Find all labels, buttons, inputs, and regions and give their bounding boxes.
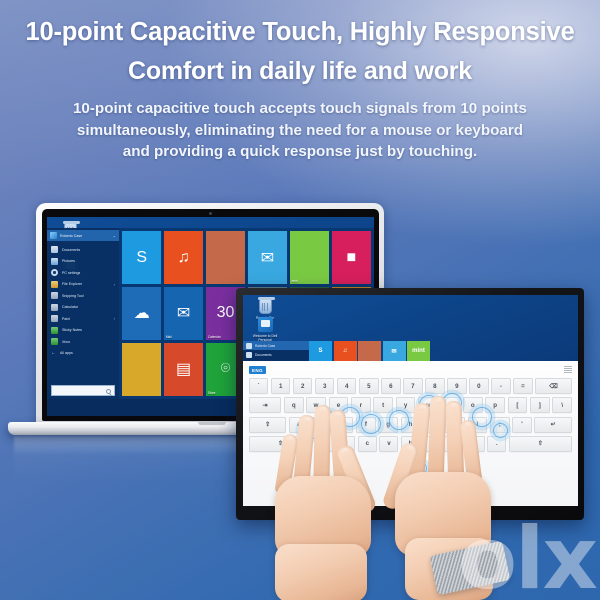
key-sym[interactable]: ↵	[534, 417, 571, 433]
item-label: Documents	[62, 248, 80, 252]
keyboard-row-3: ⇪asdfghjkl;'↵	[249, 417, 572, 433]
item-icon	[51, 281, 58, 288]
tile-caption: Calendar	[208, 335, 221, 339]
tile-glyph: ✉	[248, 231, 287, 284]
key-c[interactable]: c	[358, 436, 377, 452]
key-sym[interactable]: ⇧	[249, 436, 312, 452]
keyboard-row-1: `1234567890-=⌫	[249, 378, 572, 394]
start-menu-item-calculator[interactable]: Calculator	[47, 302, 119, 314]
item-label: Calculator	[62, 305, 78, 309]
tablet-start-menu-tiles: S♫✉mint	[309, 341, 578, 361]
keyboard-dock-icon[interactable]	[564, 366, 572, 373]
tile-glyph: ■	[332, 231, 371, 284]
start-menu-sidebar: Roberto Case ⌄ DocumentsPicturesPC setti…	[47, 228, 119, 399]
item-label: File Explorer	[62, 282, 82, 286]
right-wrist	[405, 538, 493, 600]
start-menu-item-sticky-notes[interactable]: Sticky Notes	[47, 325, 119, 337]
key-q[interactable]: q	[284, 397, 304, 413]
key-z[interactable]: z	[315, 436, 334, 452]
tile-glyph	[358, 341, 381, 361]
key-f[interactable]: f	[356, 417, 376, 433]
chevron-right-icon: ›	[114, 282, 115, 287]
key-sym[interactable]: ⇥	[249, 397, 281, 413]
key-t[interactable]: t	[373, 397, 393, 413]
key-v[interactable]: v	[379, 436, 398, 452]
people-photo-tile[interactable]	[206, 231, 245, 284]
key-3[interactable]: 3	[315, 378, 334, 394]
key-y[interactable]: y	[396, 397, 416, 413]
description-line-1: 10-point capacitive touch accepts touch …	[24, 98, 576, 120]
touch-monitor-device: Recycle Bin Welcome to Dell Personal Rob…	[236, 288, 584, 520]
start-menu-all-apps[interactable]: ← All apps	[47, 348, 119, 358]
key-sym[interactable]: ⇪	[249, 417, 286, 433]
tile-glyph	[290, 231, 329, 284]
key-1[interactable]: 1	[271, 378, 290, 394]
tile-glyph: ▤	[164, 343, 203, 396]
keyboard-rows: `1234567890-=⌫⇥qwertyuiop[]\⇪asdfghjkl;'…	[249, 378, 572, 452]
back-arrow-icon: ←	[51, 350, 56, 356]
start-menu-item-pictures[interactable]: Pictures	[47, 256, 119, 268]
skype-tile[interactable]: S	[309, 341, 332, 361]
keyboard-top-bar: ENG	[249, 366, 572, 375]
start-menu-item-pc-settings[interactable]: PC settings	[47, 267, 119, 279]
olx-watermark: olx	[458, 525, 596, 594]
promo-banner: 10-point Capacitive Touch, Highly Respon…	[0, 0, 600, 600]
key-o[interactable]: o	[463, 397, 483, 413]
tile-glyph: ♫	[334, 341, 357, 361]
chevron-down-icon: ⌄	[113, 233, 116, 238]
tile-glyph	[206, 231, 245, 284]
tablet-start-menu-sidebar: Roberto CaseDocuments	[243, 341, 309, 361]
mint-tile[interactable]: mint	[407, 341, 430, 361]
tablet-start-menu: Roberto CaseDocuments S♫✉mint	[243, 341, 578, 361]
key-sym[interactable]: \	[552, 397, 572, 413]
key-sym[interactable]: `	[249, 378, 268, 394]
item-label: Xbox	[62, 340, 70, 344]
key-4[interactable]: 4	[337, 378, 356, 394]
monitor-screen: Recycle Bin Welcome to Dell Personal Rob…	[243, 295, 578, 506]
key-sym[interactable]: =	[513, 378, 532, 394]
key-sym[interactable]: '	[512, 417, 532, 433]
language-badge[interactable]: ENG	[249, 366, 266, 374]
item-icon	[51, 292, 58, 299]
tile-caption: Mail	[166, 335, 172, 339]
description-line-2: simultaneously, eliminating the need for…	[24, 120, 576, 142]
keyboard-row-2: ⇥qwertyuiop[]\	[249, 397, 572, 413]
mail-tile[interactable]: ✉Mail	[164, 287, 203, 340]
start-menu-user[interactable]: Roberto Case ⌄	[47, 230, 119, 241]
key-5[interactable]: 5	[359, 378, 378, 394]
headline-block: 10-point Capacitive Touch, Highly Respon…	[0, 0, 600, 163]
key-sym[interactable]: ⌫	[535, 378, 572, 394]
item-label: Documents	[255, 353, 272, 357]
key-n[interactable]: n	[423, 436, 442, 452]
key-j[interactable]: j	[423, 417, 443, 433]
key-r[interactable]: r	[351, 397, 371, 413]
description-text: 10-point capacitive touch accepts touch …	[0, 98, 600, 163]
start-menu-item-snipping-tool[interactable]: Snipping Tool	[47, 290, 119, 302]
key-9[interactable]: 9	[447, 378, 466, 394]
desktop-icon-welcome-app[interactable]: Welcome to Dell Personal	[248, 317, 282, 343]
item-icon	[51, 338, 58, 345]
item-label: PC settings	[62, 271, 80, 275]
twitter-tile[interactable]: ✉	[248, 231, 287, 284]
key-sym[interactable]: [	[508, 397, 528, 413]
recycle-bin-icon	[259, 299, 272, 314]
tablet-start-item-documents[interactable]: Documents	[243, 350, 309, 359]
tile-glyph: mint	[407, 341, 430, 361]
start-menu-item-documents[interactable]: Documents	[47, 244, 119, 256]
key-8[interactable]: 8	[425, 378, 444, 394]
tile-caption: mint	[292, 279, 298, 283]
all-apps-label: All apps	[60, 351, 73, 355]
monitor-bezel: Recycle Bin Welcome to Dell Personal Rob…	[236, 288, 584, 520]
item-icon	[51, 258, 58, 265]
key-a[interactable]: a	[289, 417, 309, 433]
item-icon	[51, 269, 58, 276]
key-k[interactable]: k	[445, 417, 465, 433]
start-menu-items: DocumentsPicturesPC settingsFile Explore…	[47, 244, 119, 348]
key-2[interactable]: 2	[293, 378, 312, 394]
item-label: Sticky Notes	[62, 328, 82, 332]
key-sym[interactable]: -	[491, 378, 510, 394]
tablet-start-item-roberto-case[interactable]: Roberto Case	[243, 341, 309, 350]
skype-tile[interactable]: S	[122, 231, 161, 284]
twitter-tile[interactable]: ✉	[383, 341, 406, 361]
tile-glyph: ☁	[122, 287, 161, 340]
key-e[interactable]: e	[329, 397, 349, 413]
music-tile[interactable]: ♫	[334, 341, 357, 361]
item-icon	[51, 327, 58, 334]
item-icon	[246, 343, 252, 349]
start-menu-search-input[interactable]	[51, 385, 115, 396]
description-line-3: and providing a quick response just by t…	[24, 141, 576, 163]
key-x[interactable]: x	[336, 436, 355, 452]
avatar	[50, 232, 57, 239]
key-sym[interactable]: ,	[466, 436, 485, 452]
page-subtitle: Comfort in daily life and work	[0, 57, 600, 86]
tablet-windows-desktop: Recycle Bin Welcome to Dell Personal Rob…	[243, 295, 578, 361]
music-tile[interactable]: ♫	[164, 231, 203, 284]
tile-glyph: S	[122, 231, 161, 284]
tile-glyph	[122, 343, 161, 396]
news-tile[interactable]: ■	[332, 231, 371, 284]
start-menu-item-xbox[interactable]: Xbox	[47, 336, 119, 348]
tile-glyph: ♫	[164, 231, 203, 284]
page-title: 10-point Capacitive Touch, Highly Respon…	[0, 18, 600, 47]
item-label: Snipping Tool	[62, 294, 84, 298]
key-sym[interactable]: .	[487, 436, 506, 452]
key-d[interactable]: d	[334, 417, 354, 433]
key-s[interactable]: s	[311, 417, 331, 433]
search-icon	[106, 389, 111, 394]
key-i[interactable]: i	[440, 397, 460, 413]
welcome-app-icon	[258, 317, 273, 332]
keyboard-row-4: ⇧zxcvbnm,.⇧	[249, 436, 572, 452]
key-h[interactable]: h	[401, 417, 421, 433]
item-label: Paint	[62, 317, 70, 321]
item-icon	[51, 304, 58, 311]
chevron-right-icon: ›	[114, 316, 115, 321]
key-g[interactable]: g	[378, 417, 398, 433]
key-sym[interactable]: ⇧	[509, 436, 572, 452]
tile-glyph: S	[309, 341, 332, 361]
item-label: Pictures	[62, 259, 75, 263]
item-icon	[246, 352, 252, 358]
user-name-label: Roberto Case	[60, 234, 82, 238]
tile-glyph: ✉	[383, 341, 406, 361]
people-photo-tile[interactable]	[358, 341, 381, 361]
sleeve-cuff	[430, 541, 511, 596]
mint-tile[interactable]: mint	[290, 231, 329, 284]
key-m[interactable]: m	[444, 436, 463, 452]
webcam-icon	[209, 212, 212, 215]
key-0[interactable]: 0	[469, 378, 488, 394]
key-u[interactable]: u	[418, 397, 438, 413]
key-sym[interactable]: ]	[530, 397, 550, 413]
start-menu-item-paint[interactable]: Paint›	[47, 313, 119, 325]
onedrive-tile[interactable]: ☁	[122, 287, 161, 340]
minion-tile[interactable]	[122, 343, 161, 396]
tile-glyph: ✉	[164, 287, 203, 340]
key-6[interactable]: 6	[381, 378, 400, 394]
start-menu-item-file-explorer[interactable]: File Explorer›	[47, 279, 119, 291]
item-icon	[51, 246, 58, 253]
key-7[interactable]: 7	[403, 378, 422, 394]
tile-caption: Store	[208, 391, 216, 395]
key-sym[interactable]: ;	[490, 417, 510, 433]
left-wrist	[275, 544, 367, 600]
item-icon	[51, 315, 58, 322]
key-b[interactable]: b	[401, 436, 420, 452]
item-label: Roberto Case	[255, 344, 275, 348]
office-tile[interactable]: ▤	[164, 343, 203, 396]
key-l[interactable]: l	[468, 417, 488, 433]
key-p[interactable]: p	[485, 397, 505, 413]
on-screen-keyboard[interactable]: ENG `1234567890-=⌫⇥qwertyuiop[]\⇪asdfghj…	[243, 361, 578, 506]
key-w[interactable]: w	[306, 397, 326, 413]
